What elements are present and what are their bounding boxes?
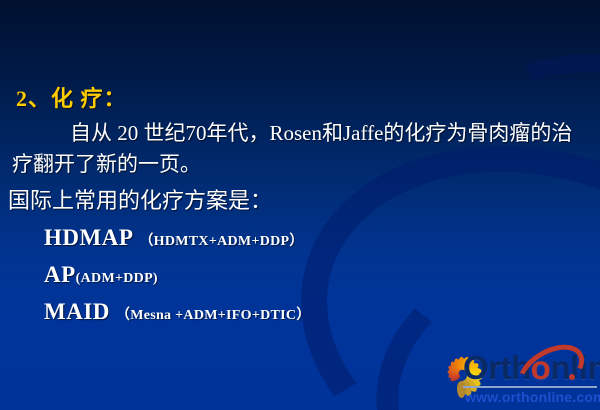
logo-divider xyxy=(463,386,597,388)
regimen-expansion: （Mesna +ADM+IFO+DTIC） xyxy=(116,304,311,324)
logo-url: www.orthonline.com.cn xyxy=(465,389,600,405)
section-heading: 2、化 疗： xyxy=(16,81,127,113)
slide-canvas: 2、化 疗： 自从 20 世纪70年代，Rosen和Jaffe的化疗为骨肉瘤的治… xyxy=(0,0,600,410)
regimen-item-hdmap: HDMAP （HDMTX+ADM+DDP） xyxy=(44,225,311,251)
regimen-abbr: HDMAP xyxy=(44,225,133,251)
regimen-expansion: (ADM+DDP) xyxy=(76,271,158,287)
regimen-abbr: MAID xyxy=(44,299,110,325)
regimen-expansion: （HDMTX+ADM+DDP） xyxy=(139,230,303,250)
regimen-item-ap: AP (ADM+DDP) xyxy=(44,262,311,288)
red-dot-icon xyxy=(569,374,575,380)
regimen-item-maid: MAID （Mesna +ADM+IFO+DTIC） xyxy=(44,299,311,325)
orthonline-logo[interactable]: Orthonline www.orthonline.com.cn xyxy=(437,348,600,410)
regimen-abbr: AP xyxy=(44,262,76,288)
regimen-list: HDMAP （HDMTX+ADM+DDP） AP (ADM+DDP) MAID … xyxy=(44,225,311,336)
body-paragraph: 自从 20 世纪70年代，Rosen和Jaffe的化疗为骨肉瘤的治疗翻开了新的一… xyxy=(12,118,590,180)
body-line-secondary: 国际上常用的化疗方案是： xyxy=(8,186,272,216)
slide-content: 2、化 疗： 自从 20 世纪70年代，Rosen和Jaffe的化疗为骨肉瘤的治… xyxy=(0,0,600,410)
